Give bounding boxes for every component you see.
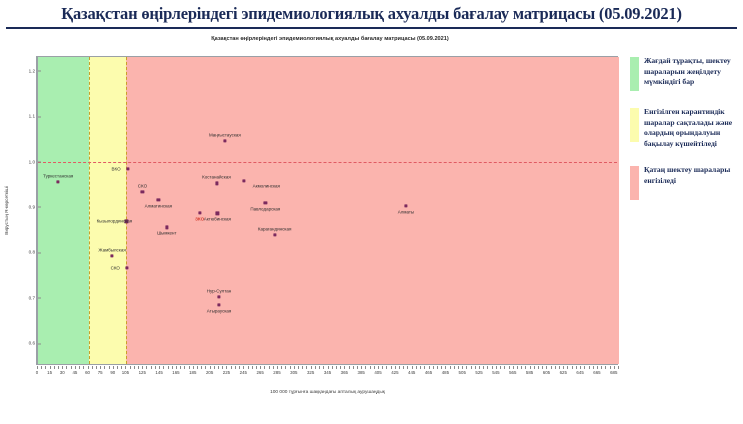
x-tick-label: 305 <box>290 370 297 375</box>
x-tick-mark <box>441 366 442 369</box>
x-tick-mark <box>50 366 51 369</box>
x-tick-label: 245 <box>240 370 247 375</box>
x-tick-mark <box>285 366 286 369</box>
legend-item: Жағдай тұрақты, шектеу шараларын жеңілде… <box>630 56 740 91</box>
x-tick-mark <box>104 366 105 369</box>
x-tick-mark <box>168 366 169 369</box>
x-tick-mark <box>302 366 303 369</box>
x-tick-mark <box>193 366 194 369</box>
x-tick-label: 465 <box>425 370 432 375</box>
data-point-label: Алматы <box>398 209 414 214</box>
x-tick-label: 285 <box>273 370 280 375</box>
x-tick-mark <box>189 366 190 369</box>
legend-item: Енгізілген карантиндік шаралар сақталады… <box>630 107 740 149</box>
x-tick-label: 485 <box>442 370 449 375</box>
x-tick-mark <box>466 366 467 369</box>
x-tick-label: 325 <box>307 370 314 375</box>
x-tick-mark <box>614 366 615 369</box>
x-tick-label: 145 <box>155 370 162 375</box>
x-tick-mark <box>395 366 396 369</box>
x-tick-label: 60 <box>85 370 90 375</box>
x-tick-mark <box>100 366 101 369</box>
x-tick-mark <box>437 366 438 369</box>
y-axis-title: Вирустың R-көрсеткіші <box>4 56 16 365</box>
data-point <box>404 204 407 207</box>
x-tick-mark <box>332 366 333 369</box>
x-tick-mark <box>399 366 400 369</box>
x-tick-mark <box>445 366 446 369</box>
x-tick-label: 90 <box>110 370 115 375</box>
x-tick-mark <box>125 366 126 369</box>
x-tick-mark <box>525 366 526 369</box>
x-tick-mark <box>243 366 244 369</box>
x-tick-mark <box>294 366 295 369</box>
x-tick-mark <box>134 366 135 369</box>
x-tick-mark <box>222 366 223 369</box>
x-tick-mark <box>576 366 577 369</box>
data-point-label: Акмолинская <box>253 184 280 189</box>
data-point <box>215 182 218 185</box>
x-tick-mark <box>235 366 236 369</box>
x-tick-mark <box>513 366 514 369</box>
y-tick-label: 1.0 <box>29 159 38 164</box>
x-tick-mark <box>201 366 202 369</box>
x-tick-mark <box>311 366 312 369</box>
x-tick-mark <box>471 366 472 369</box>
x-tick-mark <box>546 366 547 369</box>
x-tick-mark <box>593 366 594 369</box>
x-tick-label: 445 <box>408 370 415 375</box>
x-tick-mark <box>45 366 46 369</box>
x-tick-mark <box>336 366 337 369</box>
y-tick-label: 0.7 <box>29 295 38 300</box>
x-tick-mark <box>530 366 531 369</box>
x-tick-mark <box>117 366 118 369</box>
legend-label-red: Қатаң шектеу шаралары енгізіледі <box>644 165 740 186</box>
x-tick-mark <box>41 366 42 369</box>
x-tick-mark <box>306 366 307 369</box>
x-tick-mark <box>509 366 510 369</box>
x-tick-label: 345 <box>324 370 331 375</box>
x-tick-mark <box>353 366 354 369</box>
x-tick-mark <box>504 366 505 369</box>
x-tick-mark <box>210 366 211 369</box>
data-point <box>243 179 246 182</box>
x-tick-mark <box>412 366 413 369</box>
x-tick-mark <box>450 366 451 369</box>
x-tick-mark <box>226 366 227 369</box>
x-tick-mark <box>260 366 261 369</box>
data-point-label: Атырауская <box>207 308 232 313</box>
page-title: Қазақстан өңірлеріндегі эпидемиологиялық… <box>0 4 743 24</box>
x-tick-mark <box>121 366 122 369</box>
x-tick-mark <box>378 366 379 369</box>
x-tick-mark <box>386 366 387 369</box>
data-point-label: СКО <box>138 183 147 188</box>
x-tick-mark <box>231 366 232 369</box>
x-tick-mark <box>496 366 497 369</box>
x-tick-mark <box>563 366 564 369</box>
data-point <box>57 180 60 183</box>
x-tick-mark <box>281 366 282 369</box>
x-tick-label: 665 <box>593 370 600 375</box>
x-tick-mark <box>113 366 114 369</box>
x-tick-mark <box>92 366 93 369</box>
x-tick-mark <box>483 366 484 369</box>
x-tick-mark <box>458 366 459 369</box>
x-tick-label: 545 <box>492 370 499 375</box>
x-tick-label: 205 <box>206 370 213 375</box>
x-tick-mark <box>155 366 156 369</box>
x-tick-label: 15 <box>47 370 52 375</box>
x-tick-mark <box>492 366 493 369</box>
x-tick-mark <box>130 366 131 369</box>
x-tick-mark <box>277 366 278 369</box>
data-point <box>126 266 129 269</box>
x-axis: 0153045607590105125145165185205225245265… <box>37 366 618 388</box>
legend-item: Қатаң шектеу шаралары енгізіледі <box>630 165 740 200</box>
x-tick-mark <box>252 366 253 369</box>
data-point-label: Актюбинская <box>204 217 231 222</box>
x-tick-mark <box>479 366 480 369</box>
data-point-label: Маңғыстауская <box>209 133 241 138</box>
x-tick-mark <box>66 366 67 369</box>
data-point <box>217 303 220 306</box>
x-tick-mark <box>610 366 611 369</box>
x-tick-mark <box>298 366 299 369</box>
title-underline <box>6 27 737 29</box>
x-tick-mark <box>454 366 455 369</box>
x-tick-mark <box>214 366 215 369</box>
x-tick-mark <box>184 366 185 369</box>
x-tick-mark <box>180 366 181 369</box>
x-tick-mark <box>382 366 383 369</box>
x-tick-mark <box>521 366 522 369</box>
horizontal-threshold-line-0 <box>38 162 617 163</box>
x-tick-mark <box>589 366 590 369</box>
x-tick-mark <box>176 366 177 369</box>
x-tick-mark <box>88 366 89 369</box>
x-tick-label: 645 <box>576 370 583 375</box>
data-point <box>264 201 267 204</box>
x-tick-mark <box>555 366 556 369</box>
x-tick-mark <box>584 366 585 369</box>
x-tick-mark <box>109 366 110 369</box>
x-tick-mark <box>256 366 257 369</box>
x-tick-mark <box>605 366 606 369</box>
data-point <box>127 168 130 171</box>
x-tick-mark <box>357 366 358 369</box>
x-tick-label: 585 <box>526 370 533 375</box>
x-tick-label: 165 <box>172 370 179 375</box>
x-tick-mark <box>138 366 139 369</box>
x-tick-mark <box>58 366 59 369</box>
x-tick-label: 125 <box>139 370 146 375</box>
legend-label-yellow: Енгізілген карантиндік шаралар сақталады… <box>644 107 740 149</box>
x-tick-mark <box>205 366 206 369</box>
legend-label-green: Жағдай тұрақты, шектеу шараларын жеңілде… <box>644 56 740 88</box>
x-tick-mark <box>269 366 270 369</box>
x-tick-mark <box>142 366 143 369</box>
zone-yellow-band <box>89 57 127 364</box>
x-tick-mark <box>349 366 350 369</box>
zone-green-band <box>38 57 89 364</box>
x-tick-mark <box>96 366 97 369</box>
x-tick-mark <box>319 366 320 369</box>
legend-swatch-yellow <box>630 108 639 142</box>
x-tick-mark <box>407 366 408 369</box>
x-tick-mark <box>62 366 63 369</box>
x-tick-mark <box>597 366 598 369</box>
y-tick-label: 0.6 <box>29 341 38 346</box>
y-tick-label: 0.8 <box>29 250 38 255</box>
x-tick-mark <box>323 366 324 369</box>
x-tick-mark <box>75 366 76 369</box>
scatter-plot-area: 1.21.11.00.90.80.70.6 МаңғыстаускаяТурке… <box>37 56 618 365</box>
x-axis-title: 100 000 тұрғынға шаққандағы апталық ауру… <box>37 390 618 395</box>
data-point <box>273 233 276 236</box>
vertical-threshold-line-1 <box>126 57 127 364</box>
data-point-label: Карагандинская <box>258 226 292 231</box>
x-tick-label: 505 <box>459 370 466 375</box>
x-tick-mark <box>163 366 164 369</box>
data-point-label: Костанайская <box>202 175 231 180</box>
x-tick-mark <box>429 366 430 369</box>
data-point-label: Алматинская <box>145 203 172 208</box>
x-tick-label: 45 <box>72 370 77 375</box>
x-tick-mark <box>146 366 147 369</box>
x-tick-mark <box>538 366 539 369</box>
data-point-label: ВКО <box>112 167 121 172</box>
data-point-label: Жамбылская <box>98 248 125 253</box>
x-tick-mark <box>580 366 581 369</box>
x-tick-mark <box>475 366 476 369</box>
x-tick-label: 605 <box>543 370 550 375</box>
x-tick-label: 105 <box>122 370 129 375</box>
x-tick-mark <box>572 366 573 369</box>
x-tick-mark <box>54 366 55 369</box>
y-tick-label: 1.1 <box>29 114 38 119</box>
x-tick-mark <box>315 366 316 369</box>
x-tick-mark <box>248 366 249 369</box>
data-point-label: Нур-Султан <box>207 288 231 293</box>
x-tick-label: 625 <box>560 370 567 375</box>
data-point <box>141 190 144 193</box>
x-tick-mark <box>37 366 38 369</box>
x-tick-mark <box>361 366 362 369</box>
y-tick-label: 1.2 <box>29 68 38 73</box>
x-tick-mark <box>551 366 552 369</box>
x-tick-mark <box>197 366 198 369</box>
x-tick-mark <box>462 366 463 369</box>
x-tick-mark <box>542 366 543 369</box>
x-tick-label: 265 <box>256 370 263 375</box>
data-point <box>217 295 220 298</box>
x-tick-mark <box>79 366 80 369</box>
screenshot-root: Қазақстан өңірлеріндегі эпидемиологиялық… <box>0 0 743 424</box>
x-tick-label: 405 <box>374 370 381 375</box>
x-tick-mark <box>403 366 404 369</box>
x-tick-mark <box>424 366 425 369</box>
x-tick-label: 185 <box>189 370 196 375</box>
x-tick-label: 75 <box>98 370 103 375</box>
data-point-label: Туркестанская <box>43 173 73 178</box>
x-tick-label: 30 <box>60 370 65 375</box>
x-tick-mark <box>328 366 329 369</box>
data-point-label: СКО <box>111 265 120 270</box>
x-tick-mark <box>239 366 240 369</box>
x-tick-label: 385 <box>358 370 365 375</box>
x-tick-mark <box>71 366 72 369</box>
data-point <box>223 139 226 142</box>
x-tick-mark <box>618 366 619 369</box>
x-tick-label: 225 <box>223 370 230 375</box>
x-tick-mark <box>290 366 291 369</box>
x-tick-label: 425 <box>391 370 398 375</box>
chart-title: Қазақстан өңірлеріндегі эпидемиологиялық… <box>40 36 620 42</box>
data-point <box>216 212 219 215</box>
x-tick-mark <box>559 366 560 369</box>
x-tick-label: 0 <box>36 370 38 375</box>
x-tick-label: 685 <box>610 370 617 375</box>
data-point <box>198 211 201 214</box>
x-tick-mark <box>340 366 341 369</box>
y-tick-label: 0.9 <box>29 204 38 209</box>
x-tick-mark <box>416 366 417 369</box>
data-point-label: Кызылординская <box>97 219 133 224</box>
x-tick-mark <box>534 366 535 369</box>
legend: Жағдай тұрақты, шектеу шараларын жеңілде… <box>630 56 740 216</box>
x-tick-mark <box>601 366 602 369</box>
data-point-label: Шымкент <box>157 231 177 236</box>
x-tick-mark <box>374 366 375 369</box>
vertical-threshold-line-0 <box>89 57 90 364</box>
x-tick-mark <box>264 366 265 369</box>
legend-swatch-green <box>630 57 639 91</box>
x-tick-mark <box>370 366 371 369</box>
legend-swatch-red <box>630 166 639 200</box>
x-tick-mark <box>500 366 501 369</box>
x-tick-mark <box>517 366 518 369</box>
x-tick-mark <box>83 366 84 369</box>
x-tick-label: 365 <box>341 370 348 375</box>
x-tick-mark <box>344 366 345 369</box>
x-tick-mark <box>273 366 274 369</box>
x-tick-mark <box>151 366 152 369</box>
x-tick-mark <box>172 366 173 369</box>
x-tick-label: 525 <box>475 370 482 375</box>
x-tick-label: 565 <box>509 370 516 375</box>
x-tick-mark <box>218 366 219 369</box>
x-tick-mark <box>420 366 421 369</box>
x-tick-mark <box>159 366 160 369</box>
x-tick-mark <box>365 366 366 369</box>
data-point-label: Павлодарская <box>250 206 280 211</box>
data-point <box>165 226 168 229</box>
x-tick-mark <box>391 366 392 369</box>
x-tick-mark <box>487 366 488 369</box>
x-tick-mark <box>433 366 434 369</box>
data-point <box>157 198 160 201</box>
data-point <box>111 254 114 257</box>
x-tick-mark <box>567 366 568 369</box>
